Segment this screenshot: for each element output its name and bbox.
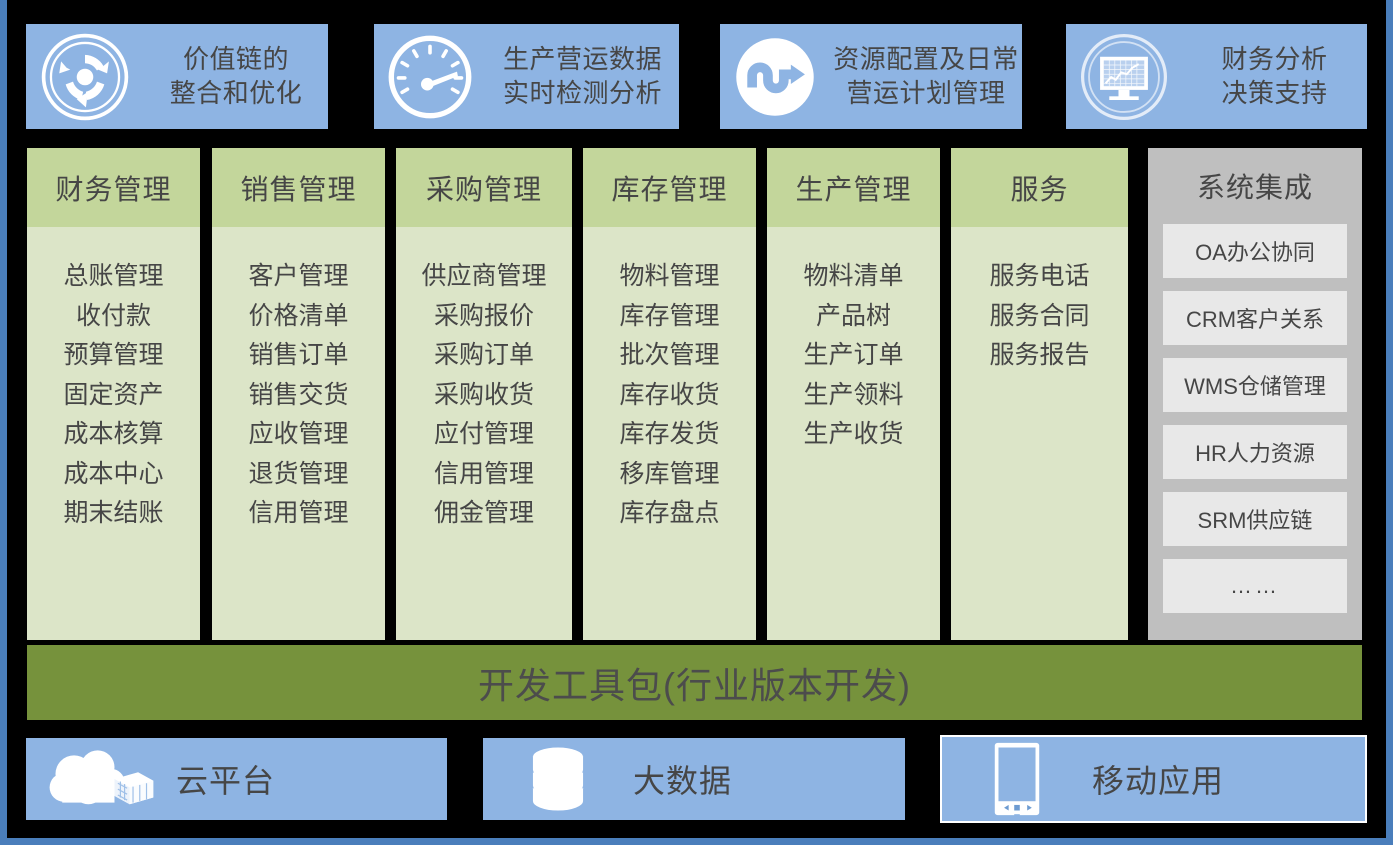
bottom-panel-label: 云平台: [176, 756, 447, 802]
module-item[interactable]: 移库管理: [583, 455, 756, 495]
module-column-header: 销售管理: [212, 148, 385, 227]
system-integration-tile[interactable]: CRM客户关系: [1163, 291, 1347, 345]
module-item-list: 服务电话 服务合同 服务报告: [951, 227, 1128, 640]
top-banner-label: 生产营运数据 实时检测分析: [486, 43, 679, 110]
top-banner-value-chain[interactable]: 价值链的 整合和优化: [26, 24, 328, 129]
module-item[interactable]: 库存收货: [583, 376, 756, 416]
module-item-list: 供应商管理 采购报价 采购订单 采购收货 应付管理 信用管理 佣金管理: [396, 227, 572, 640]
module-item[interactable]: 成本中心: [27, 455, 200, 495]
module-item[interactable]: 采购收货: [396, 376, 572, 416]
top-banner-label: 财务分析 决策支持: [1182, 43, 1367, 110]
module-item[interactable]: 批次管理: [583, 336, 756, 376]
module-item[interactable]: 生产领料: [767, 376, 940, 416]
module-item-list: 物料管理 库存管理 批次管理 库存收货 库存发货 移库管理 库存盘点: [583, 227, 756, 640]
system-integration-tile[interactable]: OA办公协同: [1163, 224, 1347, 278]
value-chain-cycle-icon: [26, 31, 144, 123]
module-column-header: 财务管理: [27, 148, 200, 227]
module-column-sales[interactable]: 销售管理 客户管理 价格清单 销售订单 销售交货 应收管理 退货管理 信用管理: [212, 148, 385, 640]
module-item[interactable]: 客户管理: [212, 257, 385, 297]
module-item[interactable]: 服务合同: [951, 297, 1128, 337]
module-column-finance[interactable]: 财务管理 总账管理 收付款 预算管理 固定资产 成本核算 成本中心 期末结账: [27, 148, 200, 640]
module-item[interactable]: 佣金管理: [396, 494, 572, 534]
module-item[interactable]: 产品树: [767, 297, 940, 337]
bottom-panel-cloud[interactable]: 云平台: [26, 738, 447, 820]
system-integration-tile[interactable]: HR人力资源: [1163, 425, 1347, 479]
workflow-arrow-icon: [720, 33, 830, 121]
top-banner-label: 价值链的 整合和优化: [144, 43, 328, 110]
module-column-inventory[interactable]: 库存管理 物料管理 库存管理 批次管理 库存收货 库存发货 移库管理 库存盘点: [583, 148, 756, 640]
module-item[interactable]: 供应商管理: [396, 257, 572, 297]
module-item[interactable]: 物料清单: [767, 257, 940, 297]
module-item[interactable]: 服务报告: [951, 336, 1128, 376]
module-item[interactable]: 库存发货: [583, 415, 756, 455]
system-integration-header: 系统集成: [1197, 148, 1313, 224]
module-item[interactable]: 服务电话: [951, 257, 1128, 297]
module-column-production[interactable]: 生产管理 物料清单 产品树 生产订单 生产领料 生产收货: [767, 148, 940, 640]
system-integration-column[interactable]: 系统集成 OA办公协同 CRM客户关系 WMS仓储管理 HR人力资源 SRM供应…: [1148, 148, 1362, 640]
module-item[interactable]: 应付管理: [396, 415, 572, 455]
bottom-panel-mobile[interactable]: 移动应用: [940, 735, 1367, 823]
top-banner-resource-plan[interactable]: 资源配置及日常 营运计划管理: [720, 24, 1022, 129]
module-item[interactable]: 固定资产: [27, 376, 200, 416]
module-item[interactable]: 价格清单: [212, 297, 385, 337]
module-item-list: 总账管理 收付款 预算管理 固定资产 成本核算 成本中心 期末结账: [27, 227, 200, 640]
system-integration-tile[interactable]: WMS仓储管理: [1163, 358, 1347, 412]
monitor-chart-icon: [1066, 31, 1182, 123]
module-item[interactable]: 物料管理: [583, 257, 756, 297]
mobile-phone-icon: [942, 740, 1092, 818]
module-item[interactable]: 期末结账: [27, 494, 200, 534]
top-banner-production-data[interactable]: 生产营运数据 实时检测分析: [374, 24, 679, 129]
top-banner-finance-analysis[interactable]: 财务分析 决策支持: [1066, 24, 1367, 129]
module-item[interactable]: 采购报价: [396, 297, 572, 337]
module-column-header: 服务: [951, 148, 1128, 227]
module-column-header: 采购管理: [396, 148, 572, 227]
module-item[interactable]: 预算管理: [27, 336, 200, 376]
module-item[interactable]: 退货管理: [212, 455, 385, 495]
system-integration-tile-more[interactable]: ……: [1163, 559, 1347, 613]
module-item[interactable]: 收付款: [27, 297, 200, 337]
module-item[interactable]: 销售订单: [212, 336, 385, 376]
module-item[interactable]: 信用管理: [212, 494, 385, 534]
module-item[interactable]: 总账管理: [27, 257, 200, 297]
module-item[interactable]: 成本核算: [27, 415, 200, 455]
module-item[interactable]: 销售交货: [212, 376, 385, 416]
bottom-panel-bigdata[interactable]: 大数据: [483, 738, 905, 820]
module-item[interactable]: 生产订单: [767, 336, 940, 376]
module-column-header: 库存管理: [583, 148, 756, 227]
dev-toolkit-label: 开发工具包(行业版本开发): [478, 657, 911, 709]
module-column-service[interactable]: 服务 服务电话 服务合同 服务报告: [951, 148, 1128, 640]
speedometer-gauge-icon: [374, 32, 486, 122]
module-item-list: 客户管理 价格清单 销售订单 销售交货 应收管理 退货管理 信用管理: [212, 227, 385, 640]
module-item[interactable]: 应收管理: [212, 415, 385, 455]
system-integration-tile[interactable]: SRM供应链: [1163, 492, 1347, 546]
bottom-panel-label: 大数据: [633, 756, 905, 802]
bottom-panel-label: 移动应用: [1092, 756, 1365, 802]
cloud-server-icon: [26, 748, 176, 810]
module-column-purchase[interactable]: 采购管理 供应商管理 采购报价 采购订单 采购收货 应付管理 信用管理 佣金管理: [396, 148, 572, 640]
module-column-header: 生产管理: [767, 148, 940, 227]
diagram-canvas: 价值链的 整合和优化 生产营运数据 实时检: [0, 0, 1393, 845]
module-item[interactable]: 信用管理: [396, 455, 572, 495]
module-item[interactable]: 采购订单: [396, 336, 572, 376]
module-item[interactable]: 库存管理: [583, 297, 756, 337]
top-banner-label: 资源配置及日常 营运计划管理: [830, 43, 1022, 110]
module-item-list: 物料清单 产品树 生产订单 生产领料 生产收货: [767, 227, 940, 640]
database-stack-icon: [483, 744, 633, 814]
dev-toolkit-bar[interactable]: 开发工具包(行业版本开发): [27, 645, 1362, 720]
module-item[interactable]: 库存盘点: [583, 494, 756, 534]
module-item[interactable]: 生产收货: [767, 415, 940, 455]
